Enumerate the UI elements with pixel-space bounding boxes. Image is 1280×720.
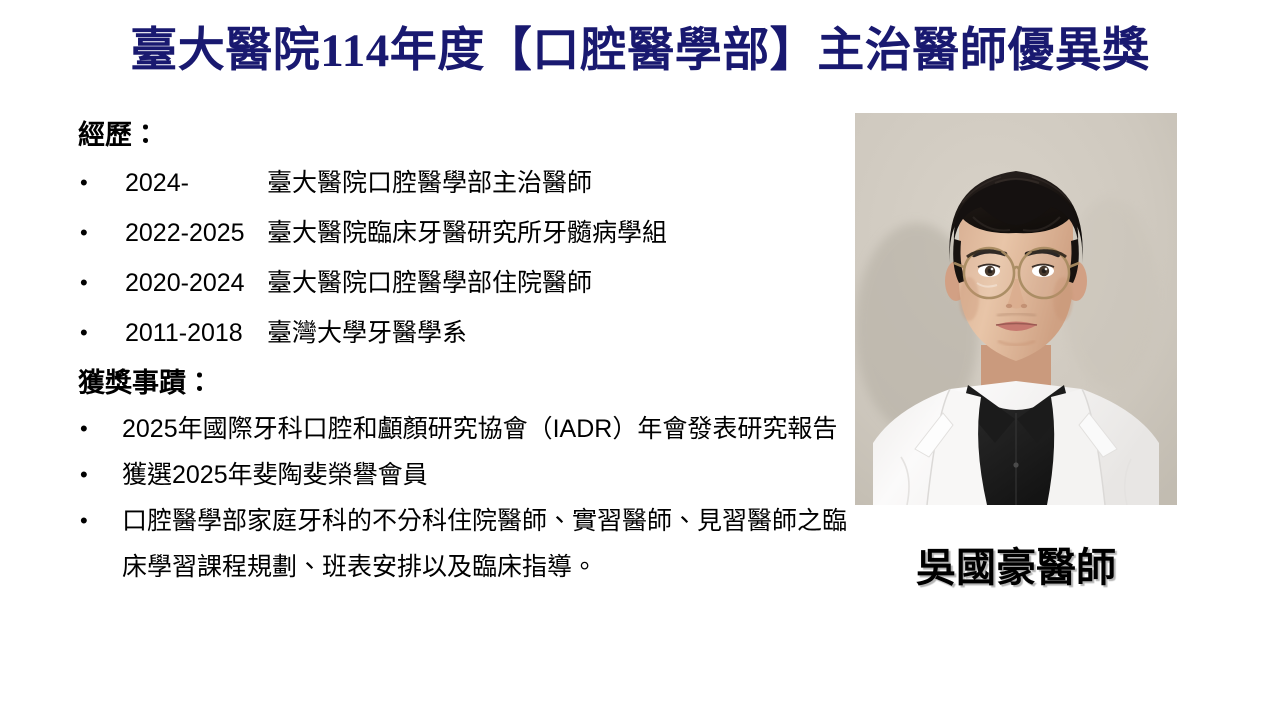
doctor-name-caption: 吳國豪醫師 <box>855 543 1177 593</box>
bullet-point-icon: • <box>80 208 94 258</box>
bullet-point-icon: • <box>80 498 94 544</box>
experience-text: 臺大醫院口腔醫學部主治醫師 <box>267 169 592 197</box>
page-title: 臺大醫院114年度【口腔醫學部】主治醫師優異獎 <box>0 22 1280 80</box>
award-text: 獲選2025年斐陶斐榮譽會員 <box>122 452 860 498</box>
experience-date: 2011-2018 <box>125 308 267 358</box>
bullet-point-icon: • <box>80 452 94 498</box>
experience-text: 臺灣大學牙醫學系 <box>267 319 467 347</box>
list-item: • 2022-2025臺大醫院臨床牙醫研究所牙髓病學組 <box>70 208 860 258</box>
list-item: • 2024-臺大醫院口腔醫學部主治醫師 <box>70 158 860 208</box>
experience-text: 臺大醫院臨床牙醫研究所牙髓病學組 <box>267 219 667 247</box>
award-text: 2025年國際牙科口腔和顱顏研究協會（IADR）年會發表研究報告 <box>122 406 860 452</box>
bullet-point-icon: • <box>80 308 94 358</box>
experience-date: 2020-2024 <box>125 258 267 308</box>
bullet-point-icon: • <box>80 158 94 208</box>
awards-heading: 獲獎事蹟： <box>78 366 860 400</box>
experience-text: 臺大醫院口腔醫學部住院醫師 <box>267 269 592 297</box>
content-column: 經歷： • 2024-臺大醫院口腔醫學部主治醫師 • 2022-2025臺大醫院… <box>70 118 860 590</box>
slide-canvas: 臺大醫院114年度【口腔醫學部】主治醫師優異獎 經歷： • 2024-臺大醫院口… <box>0 0 1280 720</box>
experience-date: 2022-2025 <box>125 208 267 258</box>
portrait-photo-frame <box>855 113 1177 505</box>
awards-list: • 2025年國際牙科口腔和顱顏研究協會（IADR）年會發表研究報告 • 獲選2… <box>70 406 860 590</box>
experience-date: 2024- <box>125 158 267 208</box>
award-text: 口腔醫學部家庭牙科的不分科住院醫師、實習醫師、見習醫師之臨床學習課程規劃、班表安… <box>122 498 860 590</box>
list-item: • 獲選2025年斐陶斐榮譽會員 <box>70 452 860 498</box>
list-item: • 2025年國際牙科口腔和顱顏研究協會（IADR）年會發表研究報告 <box>70 406 860 452</box>
bullet-point-icon: • <box>80 258 94 308</box>
list-item: • 2011-2018臺灣大學牙醫學系 <box>70 308 860 358</box>
list-item: • 2020-2024臺大醫院口腔醫學部住院醫師 <box>70 258 860 308</box>
experience-heading: 經歷： <box>78 118 860 152</box>
experience-list: • 2024-臺大醫院口腔醫學部主治醫師 • 2022-2025臺大醫院臨床牙醫… <box>70 158 860 358</box>
portrait-photo <box>855 113 1177 505</box>
list-item: • 口腔醫學部家庭牙科的不分科住院醫師、實習醫師、見習醫師之臨床學習課程規劃、班… <box>70 498 860 590</box>
bullet-point-icon: • <box>80 406 94 452</box>
